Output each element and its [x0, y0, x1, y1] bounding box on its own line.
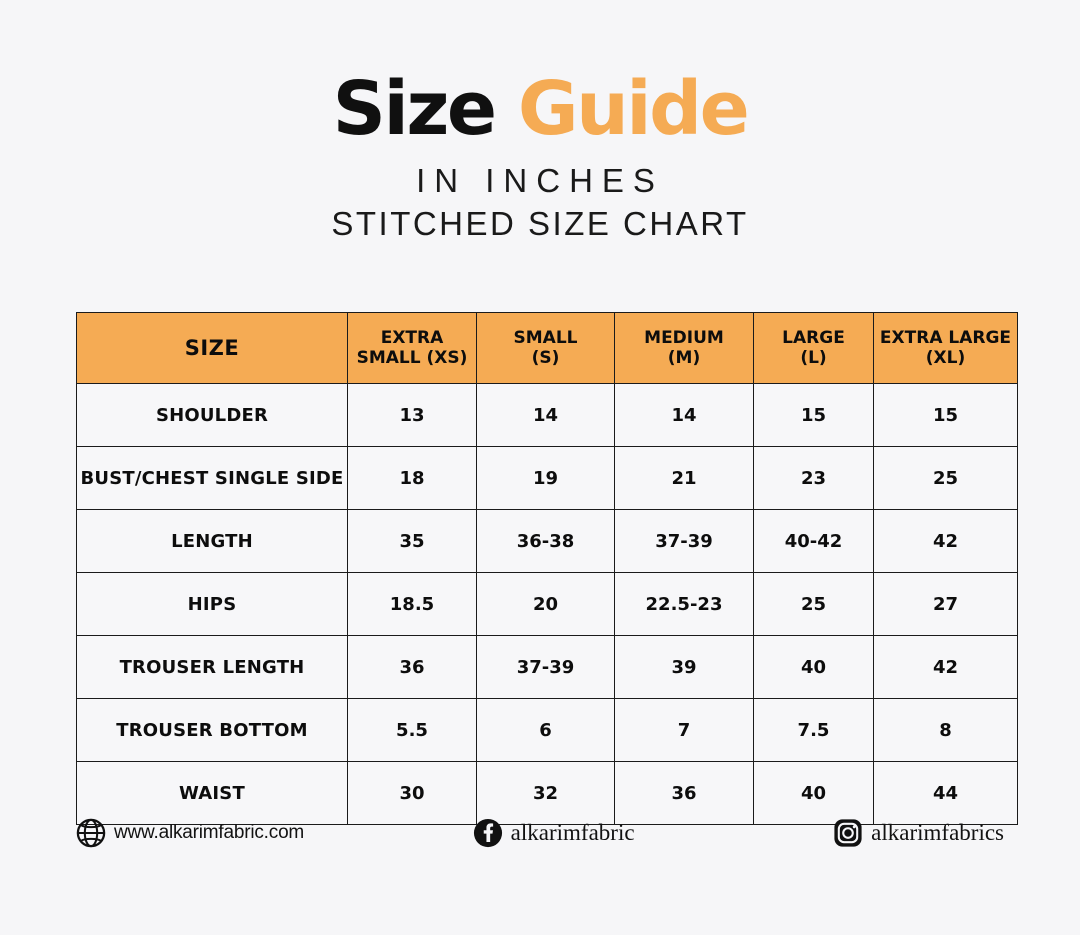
- cell-hips-xl: 27: [874, 573, 1018, 636]
- column-header-xl: EXTRA LARGE (XL): [874, 313, 1018, 384]
- facebook-icon: [473, 818, 503, 848]
- cell-length-s: 36-38: [477, 510, 615, 573]
- table-row: TROUSER BOTTOM 5.5 6 7 7.5 8: [77, 699, 1018, 762]
- page-title-word-guide: Guide: [518, 66, 747, 152]
- cell-bust-m: 21: [615, 447, 754, 510]
- cell-trouser-bottom-l: 7.5: [754, 699, 874, 762]
- footer-contact-bar: www.alkarimfabric.com alkarimfabric alka…: [76, 818, 1004, 848]
- column-header-xs: EXTRA SMALL (XS): [348, 313, 477, 384]
- row-label-hips: HIPS: [77, 573, 348, 636]
- table-row: BUST/CHEST SINGLE SIDE 18 19 21 23 25: [77, 447, 1018, 510]
- cell-trouser-length-xs: 36: [348, 636, 477, 699]
- row-label-length: LENGTH: [77, 510, 348, 573]
- table-row: HIPS 18.5 20 22.5-23 25 27: [77, 573, 1018, 636]
- row-label-bust-chest: BUST/CHEST SINGLE SIDE: [77, 447, 348, 510]
- table-row: LENGTH 35 36-38 37-39 40-42 42: [77, 510, 1018, 573]
- column-header-l: LARGE (L): [754, 313, 874, 384]
- cell-bust-xs: 18: [348, 447, 477, 510]
- footer-facebook-link[interactable]: alkarimfabric: [274, 818, 833, 848]
- table-row: WAIST 30 32 36 40 44: [77, 762, 1018, 825]
- column-header-xs-line1: EXTRA: [350, 328, 474, 348]
- row-label-shoulder: SHOULDER: [77, 384, 348, 447]
- column-header-m-line2: (M): [617, 348, 751, 368]
- column-header-l-line2: (L): [756, 348, 871, 368]
- cell-length-xl: 42: [874, 510, 1018, 573]
- cell-bust-s: 19: [477, 447, 615, 510]
- cell-waist-xl: 44: [874, 762, 1018, 825]
- header-block: Size Guide IN INCHES STITCHED SIZE CHART: [0, 0, 1080, 241]
- row-label-trouser-length: TROUSER LENGTH: [77, 636, 348, 699]
- table-header: SIZE EXTRA SMALL (XS) SMALL (S) MEDIUM (…: [77, 313, 1018, 384]
- cell-waist-s: 32: [477, 762, 615, 825]
- cell-shoulder-l: 15: [754, 384, 874, 447]
- cell-hips-s: 20: [477, 573, 615, 636]
- cell-waist-m: 36: [615, 762, 754, 825]
- cell-hips-m: 22.5-23: [615, 573, 754, 636]
- column-header-m-line1: MEDIUM: [617, 328, 751, 348]
- globe-icon: [76, 818, 106, 848]
- footer-website-link[interactable]: www.alkarimfabric.com: [76, 818, 304, 848]
- footer-instagram-label: alkarimfabrics: [871, 820, 1004, 846]
- column-header-xl-line2: (XL): [876, 348, 1015, 368]
- column-header-xl-line1: EXTRA LARGE: [876, 328, 1015, 348]
- footer-instagram-link[interactable]: alkarimfabrics: [833, 818, 1004, 848]
- size-chart-table: SIZE EXTRA SMALL (XS) SMALL (S) MEDIUM (…: [76, 312, 1018, 825]
- cell-shoulder-xs: 13: [348, 384, 477, 447]
- cell-bust-xl: 25: [874, 447, 1018, 510]
- page-title-word-size: Size: [333, 66, 495, 152]
- page-title: Size Guide: [0, 72, 1080, 146]
- size-chart-container: SIZE EXTRA SMALL (XS) SMALL (S) MEDIUM (…: [76, 312, 1004, 825]
- cell-trouser-bottom-xl: 8: [874, 699, 1018, 762]
- column-header-m: MEDIUM (M): [615, 313, 754, 384]
- column-header-size: SIZE: [77, 313, 348, 384]
- table-row: TROUSER LENGTH 36 37-39 39 40 42: [77, 636, 1018, 699]
- table-body: SHOULDER 13 14 14 15 15 BUST/CHEST SINGL…: [77, 384, 1018, 825]
- column-header-s: SMALL (S): [477, 313, 615, 384]
- cell-trouser-length-l: 40: [754, 636, 874, 699]
- subtitle-chart-type: STITCHED SIZE CHART: [0, 207, 1080, 242]
- cell-trouser-length-m: 39: [615, 636, 754, 699]
- row-label-waist: WAIST: [77, 762, 348, 825]
- cell-shoulder-s: 14: [477, 384, 615, 447]
- cell-hips-l: 25: [754, 573, 874, 636]
- column-header-xs-line2: SMALL (XS): [350, 348, 474, 368]
- row-label-trouser-bottom: TROUSER BOTTOM: [77, 699, 348, 762]
- cell-trouser-bottom-xs: 5.5: [348, 699, 477, 762]
- cell-waist-xs: 30: [348, 762, 477, 825]
- cell-shoulder-xl: 15: [874, 384, 1018, 447]
- cell-trouser-length-s: 37-39: [477, 636, 615, 699]
- table-row: SHOULDER 13 14 14 15 15: [77, 384, 1018, 447]
- instagram-icon: [833, 818, 863, 848]
- cell-trouser-bottom-s: 6: [477, 699, 615, 762]
- footer-facebook-label: alkarimfabric: [511, 820, 635, 846]
- cell-hips-xs: 18.5: [348, 573, 477, 636]
- cell-trouser-bottom-m: 7: [615, 699, 754, 762]
- cell-length-m: 37-39: [615, 510, 754, 573]
- cell-waist-l: 40: [754, 762, 874, 825]
- cell-bust-l: 23: [754, 447, 874, 510]
- column-header-l-line1: LARGE: [756, 328, 871, 348]
- column-header-s-line2: (S): [479, 348, 612, 368]
- subtitle-units: IN INCHES: [0, 164, 1080, 199]
- column-header-size-line1: SIZE: [79, 336, 345, 361]
- table-header-row: SIZE EXTRA SMALL (XS) SMALL (S) MEDIUM (…: [77, 313, 1018, 384]
- column-header-s-line1: SMALL: [479, 328, 612, 348]
- cell-length-l: 40-42: [754, 510, 874, 573]
- cell-shoulder-m: 14: [615, 384, 754, 447]
- cell-length-xs: 35: [348, 510, 477, 573]
- cell-trouser-length-xl: 42: [874, 636, 1018, 699]
